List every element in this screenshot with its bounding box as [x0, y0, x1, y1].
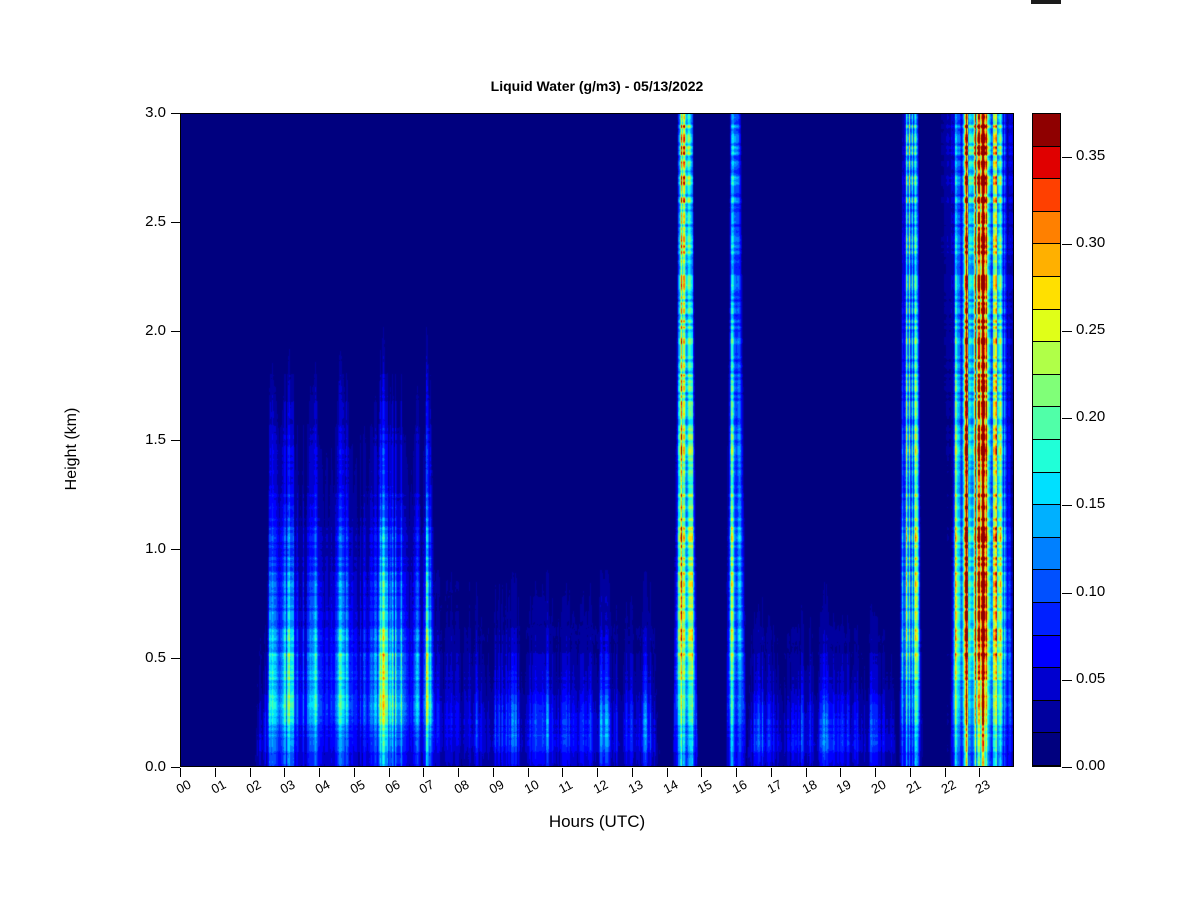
y-tick-mark: [171, 658, 180, 659]
x-tick-mark: [423, 768, 424, 777]
x-tick-mark: [354, 768, 355, 777]
page-title: Liquid Water (g/m3) - 05/13/2022: [180, 78, 1014, 94]
x-tick-mark: [180, 768, 181, 777]
x-tick-label: 21: [892, 771, 934, 803]
x-tick-mark: [736, 768, 737, 777]
colorbar-tick-label: 0.05: [1076, 670, 1146, 687]
colorbar-block: [1033, 473, 1060, 506]
y-tick-label: 0.0: [120, 758, 166, 775]
colorbar-block: [1033, 310, 1060, 343]
y-tick-mark: [171, 222, 180, 223]
colorbar-tick-label: 0.20: [1076, 408, 1146, 425]
x-tick-mark: [597, 768, 598, 777]
figure-canvas: Liquid Water (g/m3) - 05/13/2022 0.00.51…: [0, 0, 1200, 900]
x-tick-label: 17: [753, 771, 795, 803]
x-tick-label: 12: [579, 771, 621, 803]
x-tick-label: 09: [475, 771, 517, 803]
colorbar-block: [1033, 668, 1060, 701]
x-tick-label: 23: [961, 771, 1003, 803]
x-tick-mark: [389, 768, 390, 777]
x-tick-mark: [284, 768, 285, 777]
x-tick-mark: [250, 768, 251, 777]
colorbar-tick-label: 0.00: [1076, 757, 1146, 774]
colorbar-tick-mark: [1062, 680, 1072, 681]
colorbar-tick-mark: [1062, 767, 1072, 768]
x-tick-label: 08: [440, 771, 482, 803]
x-tick-label: 15: [683, 771, 725, 803]
colorbar-block: [1033, 701, 1060, 734]
colorbar-block: [1033, 147, 1060, 180]
x-tick-label: 03: [266, 771, 308, 803]
colorbar-tick-label: 0.25: [1076, 321, 1146, 338]
x-tick-label: 01: [197, 771, 239, 803]
y-tick-mark: [171, 767, 180, 768]
colorbar-block: [1033, 277, 1060, 310]
x-tick-mark: [840, 768, 841, 777]
colorbar-tick-mark: [1062, 418, 1072, 419]
y-tick-mark: [171, 549, 180, 550]
x-tick-label: 13: [614, 771, 656, 803]
colorbar-block: [1033, 636, 1060, 669]
y-tick-label: 0.5: [120, 649, 166, 666]
x-tick-mark: [562, 768, 563, 777]
x-tick-label: 18: [788, 771, 830, 803]
colorbar-block: [1033, 179, 1060, 212]
colorbar-tick-label: 0.30: [1076, 234, 1146, 251]
y-axis-label: Height (km): [63, 369, 81, 529]
colorbar-tick-mark: [1062, 331, 1072, 332]
colorbar-block: [1033, 538, 1060, 571]
x-tick-mark: [319, 768, 320, 777]
x-tick-label: 04: [301, 771, 343, 803]
colorbar-tick-mark: [1062, 505, 1072, 506]
x-tick-mark: [667, 768, 668, 777]
y-tick-label: 3.0: [120, 104, 166, 121]
colorbar-block: [1033, 505, 1060, 538]
x-axis-label: Hours (UTC): [180, 812, 1014, 832]
colorbar-tick-label: 0.35: [1076, 147, 1146, 164]
x-tick-mark: [806, 768, 807, 777]
x-tick-mark: [528, 768, 529, 777]
y-tick-mark: [171, 440, 180, 441]
y-tick-mark: [171, 113, 180, 114]
colorbar: [1032, 113, 1061, 767]
x-tick-label: 02: [232, 771, 274, 803]
colorbar-block: [1033, 440, 1060, 473]
x-tick-label: 14: [649, 771, 691, 803]
colorbar-block: [1033, 570, 1060, 603]
colorbar-tick-mark: [1062, 593, 1072, 594]
x-tick-label: 16: [718, 771, 760, 803]
x-tick-label: 05: [336, 771, 378, 803]
x-tick-label: 22: [927, 771, 969, 803]
colorbar-tick-label: 0.15: [1076, 495, 1146, 512]
x-tick-mark: [632, 768, 633, 777]
x-tick-label: 20: [857, 771, 899, 803]
x-tick-label: 06: [371, 771, 413, 803]
colorbar-block: [1033, 375, 1060, 408]
colorbar-block: [1033, 114, 1060, 147]
x-tick-mark: [979, 768, 980, 777]
x-tick-mark: [875, 768, 876, 777]
x-tick-mark: [945, 768, 946, 777]
y-tick-label: 2.5: [120, 213, 166, 230]
x-tick-label: 10: [510, 771, 552, 803]
colorbar-block: [1033, 244, 1060, 277]
colorbar-tick-mark: [1062, 157, 1072, 158]
x-tick-mark: [215, 768, 216, 777]
x-tick-label: 00: [162, 771, 204, 803]
x-tick-mark: [910, 768, 911, 777]
colorbar-tick-mark: [1062, 244, 1072, 245]
heatmap-plot-area: [180, 113, 1014, 767]
x-tick-mark: [493, 768, 494, 777]
x-tick-mark: [701, 768, 702, 777]
x-tick-label: 07: [405, 771, 447, 803]
colorbar-block: [1033, 733, 1060, 766]
y-tick-mark: [171, 331, 180, 332]
colorbar-block: [1033, 407, 1060, 440]
y-tick-label: 2.0: [120, 322, 166, 339]
x-tick-mark: [771, 768, 772, 777]
colorbar-block: [1033, 603, 1060, 636]
x-tick-label: 11: [544, 771, 586, 803]
colorbar-block: [1033, 212, 1060, 245]
y-tick-label: 1.5: [120, 431, 166, 448]
y-tick-label: 1.0: [120, 540, 166, 557]
colorbar-block: [1033, 342, 1060, 375]
heatmap-image: [181, 114, 1013, 766]
artifact-bar: [1031, 0, 1061, 4]
colorbar-tick-label: 0.10: [1076, 583, 1146, 600]
x-tick-mark: [458, 768, 459, 777]
x-tick-label: 19: [822, 771, 864, 803]
